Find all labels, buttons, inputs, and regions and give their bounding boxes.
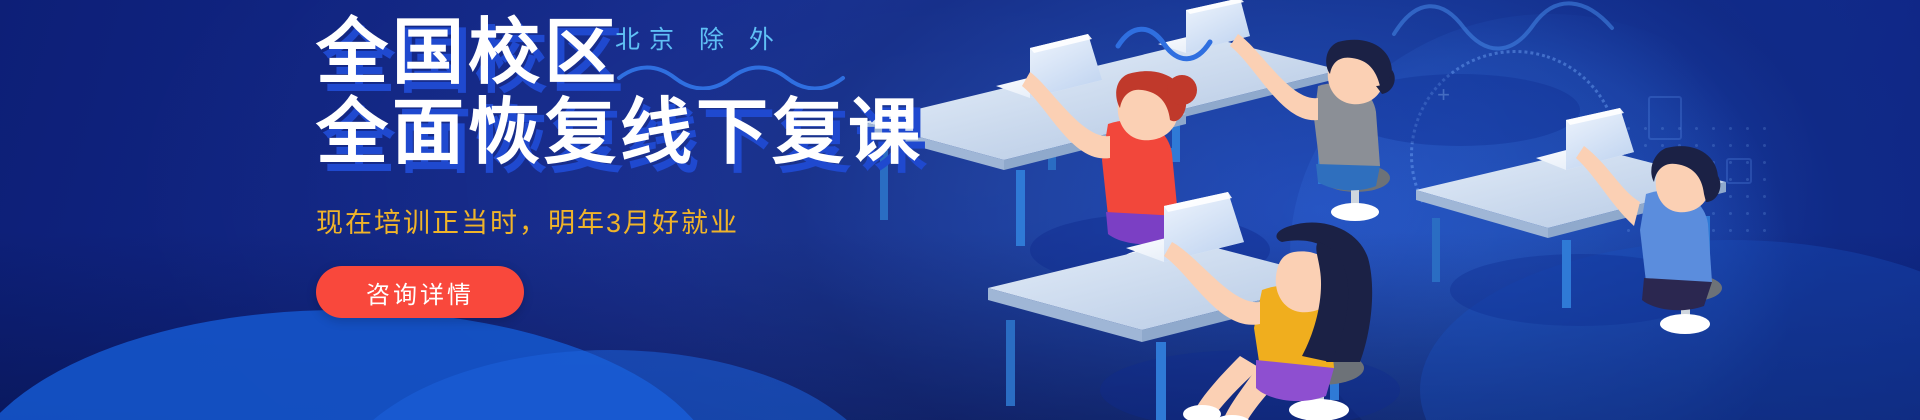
note-wave-underline [615, 60, 895, 90]
exclusion-note-label: 北京 除 外 [615, 20, 915, 56]
banner-subtitle: 现在培训正当时，明年3月好就业 [316, 201, 936, 240]
classroom-illustration-svg [820, 0, 1920, 420]
headline-line-2: 全面恢复线下复课 [316, 96, 936, 172]
consult-details-button[interactable]: 咨询详情 [316, 266, 524, 318]
promo-banner: + + + [0, 0, 1920, 420]
exclusion-note: 北京 除 外 [615, 20, 915, 90]
classroom-illustration [820, 0, 1920, 420]
